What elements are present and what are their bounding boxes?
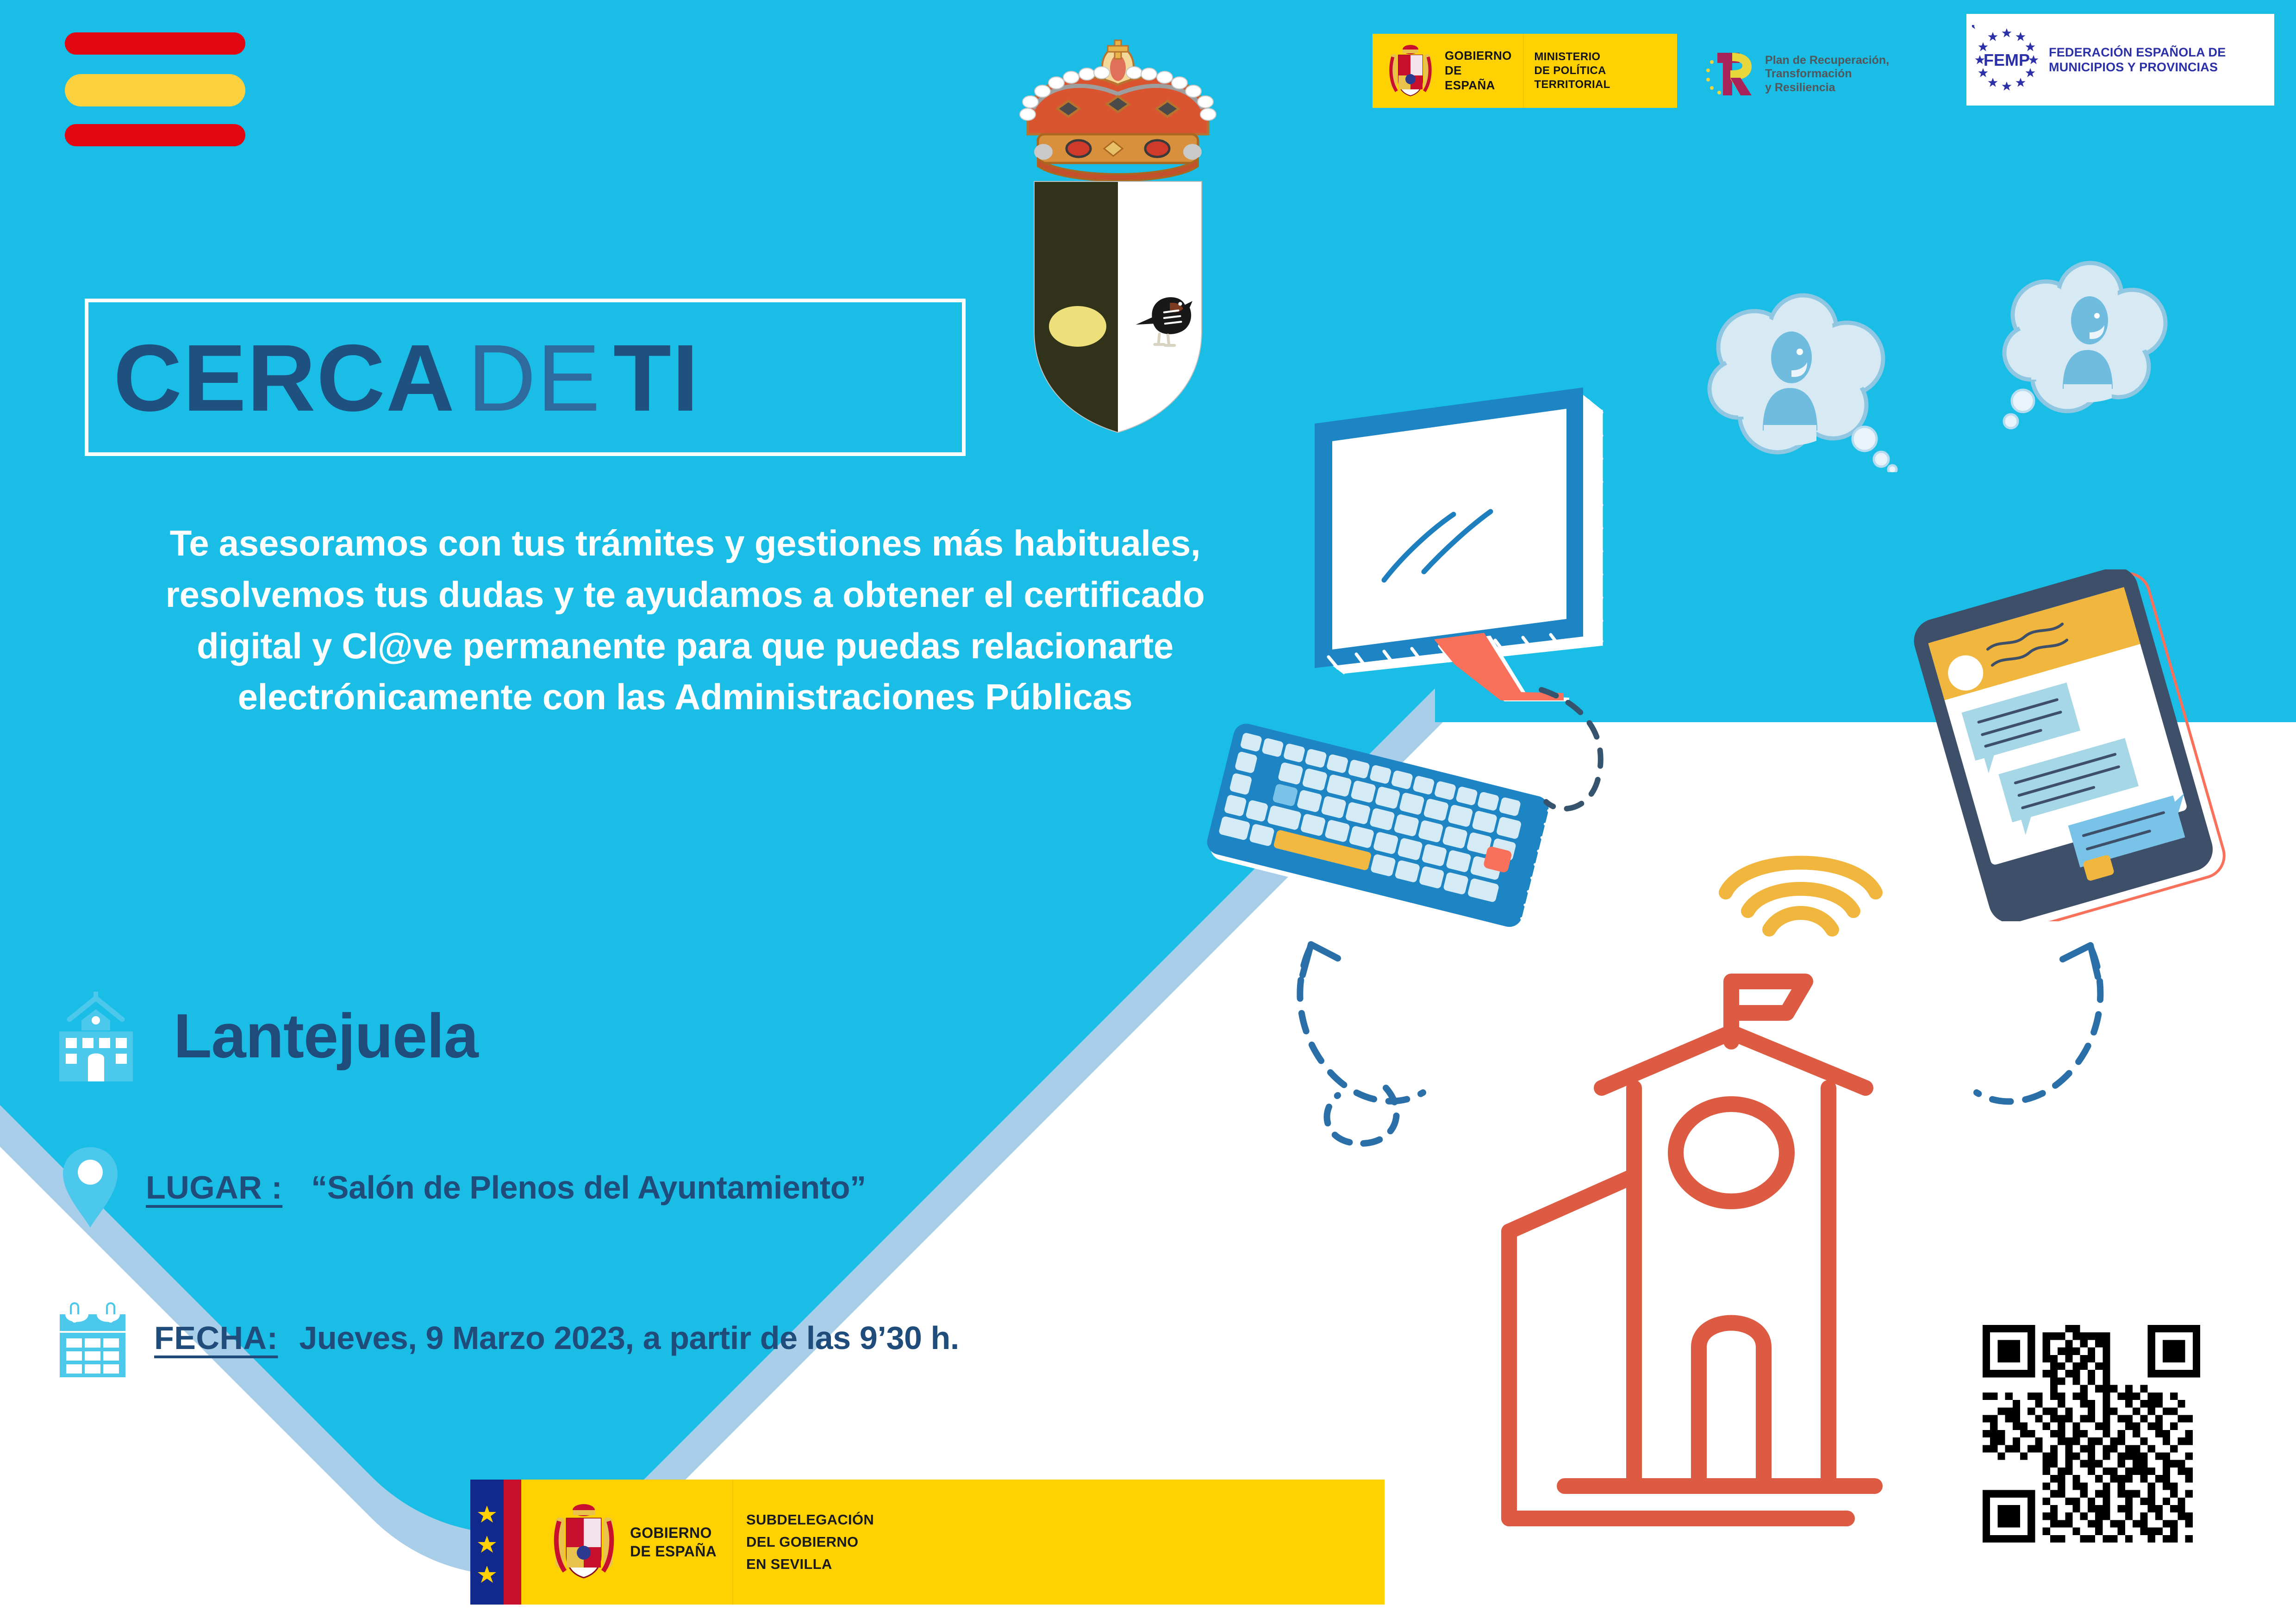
banner-gobierno-text: GOBIERNO DE ESPAÑA [630,1524,717,1561]
lead-paragraph: Te asesoramos con tus trámites y gestion… [153,518,1217,723]
logo-divider [1523,34,1524,108]
logo-gobierno-ministerio: GOBIERNO DE ESPAÑA MINISTERIO DE POLÍTIC… [1373,34,1677,108]
lantejuela-coat-of-arms-icon [1009,35,1227,437]
qr-code-icon[interactable] [1983,1325,2200,1543]
flag-bar-yellow [65,74,245,106]
logo-gobierno-text: GOBIERNO DE ESPAÑA [1445,49,1512,93]
title-part-de: DE [468,324,601,433]
spain-flag-bars-icon [65,32,245,139]
page-title: CERCA DE TI [113,311,947,445]
town-row: Lantejuela [42,986,478,1086]
venue-label: LUGAR : [146,1169,282,1206]
desktop-monitor-icon [1245,377,1634,701]
thought-cloud-person-icon [1990,250,2185,435]
lead-line-1: Te asesoramos con tus trámites y gestion… [153,518,1217,569]
logo-femp: FEMP FEDERACIÓN ESPAÑOLA DE MUNICIPIOS Y… [1966,14,2274,106]
banner-divider [732,1480,733,1605]
footer-banner-subdelegacion: GOBIERNO DE ESPAÑA SUBDELEGACIÓN DEL GOB… [470,1480,1385,1605]
svg-text:FEMP: FEMP [1984,50,2030,69]
spain-coat-of-arms-icon [548,1502,620,1583]
eu-stars-icon [470,1480,504,1605]
banner-subdelegacion-text: SUBDELEGACIÓN DEL GOBIERNO EN SEVILLA [746,1509,874,1575]
date-value: Jueves, 9 Marzo 2023, a partir de las 9’… [299,1319,959,1356]
flag-bar-red-bottom [65,124,245,146]
lead-line-3: digital y Cl@ve permanente para que pued… [153,620,1217,672]
banner-red-strip [504,1480,521,1605]
date-label: FECHA: [154,1319,278,1356]
logo-femp-text: FEDERACIÓN ESPAÑOLA DE MUNICIPIOS Y PROV… [2049,45,2226,75]
poster-root: GOBIERNO DE ESPAÑA MINISTERIO DE POLÍTIC… [0,0,2296,1624]
date-row: FECHA: Jueves, 9 Marzo 2023, a partir de… [49,1294,959,1382]
title-part-cerca: CERCA [113,324,455,433]
lead-line-2: resolvemos tus dudas y te ayudamos a obt… [153,569,1217,620]
logo-plan-recuperacion: Plan de Recuperación, Transformación y R… [1703,39,1935,109]
tablet-chat-icon [1907,569,2231,921]
title-part-ti: TI [613,324,699,433]
venue-value: “Salón de Plenos del Ayuntamiento” [311,1169,866,1206]
logo-ministerio-text: MINISTERIO DE POLÍTICA TERRITORIAL [1534,50,1677,91]
spain-coat-of-arms-icon [1385,43,1436,99]
town-hall-outline-icon [1481,935,1921,1537]
town-name: Lantejuela [174,1000,478,1072]
calendar-icon [49,1294,137,1382]
thought-cloud-person-icon [1694,278,1903,472]
prtr-tr-logo-icon [1703,46,1761,102]
flag-bar-red-top [65,32,245,55]
curved-arrow-icon [1944,935,2129,1130]
map-pin-icon [60,1143,120,1231]
town-hall-icon [42,986,150,1086]
venue-row: LUGAR : “Salón de Plenos del Ayuntamient… [60,1143,866,1231]
lead-line-4: electrónicamente con las Administracione… [153,671,1217,723]
keyboard-icon [1199,708,1565,949]
wifi-signal-icon [1713,833,1889,940]
curved-arrow-icon [1268,935,1463,1157]
dashed-connector-icon [1528,676,1666,824]
femp-stars-icon: FEMP [1972,25,2041,94]
logo-prtr-text: Plan de Recuperación, Transformación y R… [1765,54,1889,95]
